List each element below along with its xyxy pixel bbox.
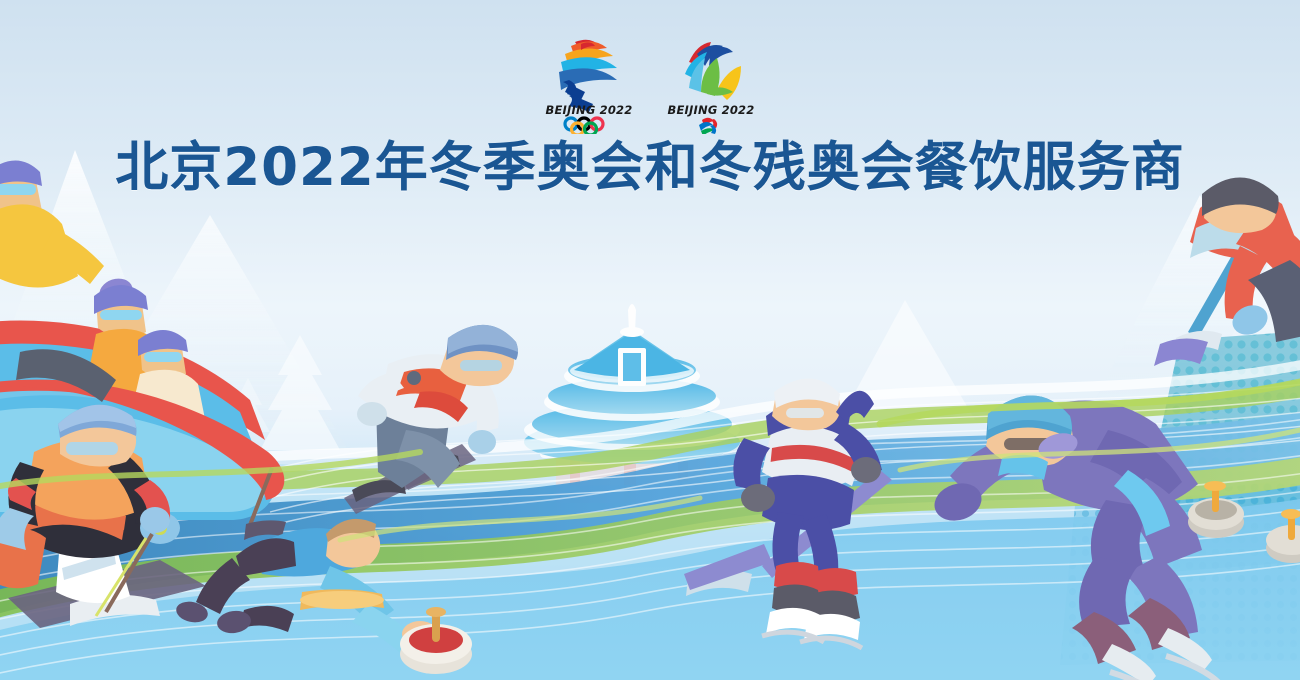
page-title-wrap: 北京2022年冬季奥会和冬残奥会餐饮服务商 [0,140,1300,196]
olympic-banner: BEIJING 2022 [0,0,1300,680]
banner-artwork [0,0,1300,680]
page-title: 北京2022年冬季奥会和冬残奥会餐饮服务商 [115,140,1185,196]
